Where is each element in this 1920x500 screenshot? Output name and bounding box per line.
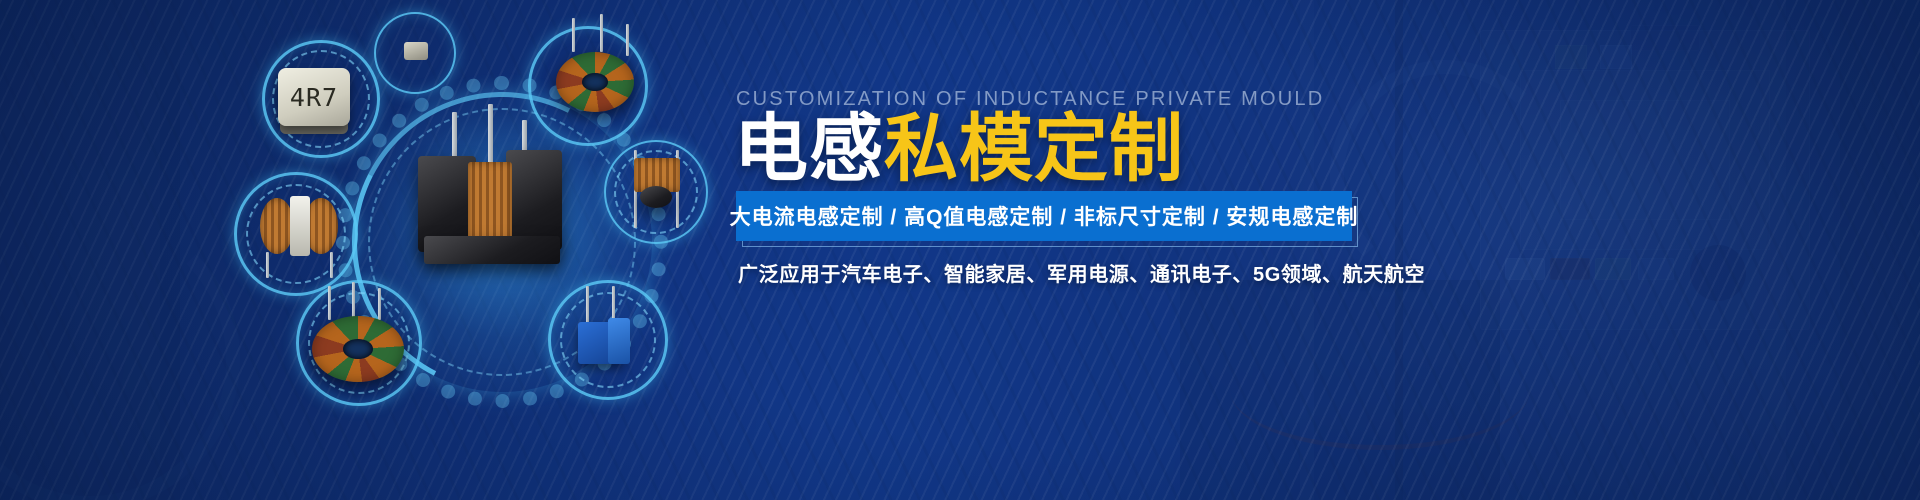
product-choke-bobbin [290,196,310,256]
product-mini-chip [404,42,428,60]
headline-accent: 私模定制 [884,107,1184,190]
toroid-bottom-lead [352,282,355,320]
product-choke-coil-a [260,198,294,254]
product-toroid-inductor-bottom [312,316,404,382]
choke-lead [330,252,333,278]
banner-content: CUSTOMIZATION OF INDUCTANCE PRIVATE MOUL… [736,0,1920,500]
headline-primary: 电感 [734,107,884,190]
chip-label-4r7: 4R7 [290,83,338,112]
rod-core [640,186,672,208]
toroid-hole [582,73,608,91]
product-smd-inductor-4r7: 4R7 [278,68,350,126]
application-description: 广泛应用于汽车电子、智能家居、军用电源、通讯电子、5G领域、航天航空 [738,258,1425,287]
page-title: 电感私模定制 [734,112,1184,186]
product-toroid-inductor-top [556,52,634,112]
service-tags-fill: 大电流电感定制 / 高Q值电感定制 / 非标尺寸定制 / 安规电感定制 [736,191,1352,241]
product-transformer-core-right [506,150,562,250]
product-transformer-winding [468,162,512,246]
toroid-lead [600,14,603,52]
toroid-hole [343,339,373,359]
toroid-bottom-lead [378,288,381,320]
product-showcase: 4R7 [0,0,730,500]
product-transformer-base [424,236,560,264]
service-tags-text: 大电流电感定制 / 高Q值电感定制 / 非标尺寸定制 / 安规电感定制 [730,201,1359,231]
promo-banner: 4R7 [0,0,1920,500]
toroid-bottom-lead [328,286,331,320]
toroid-lead [572,18,575,52]
service-tags-bar: 大电流电感定制 / 高Q值电感定制 / 非标尺寸定制 / 安规电感定制 [736,191,1358,241]
choke-lead [266,252,269,278]
product-blue-inductor-side [608,318,630,364]
toroid-lead [626,24,629,56]
